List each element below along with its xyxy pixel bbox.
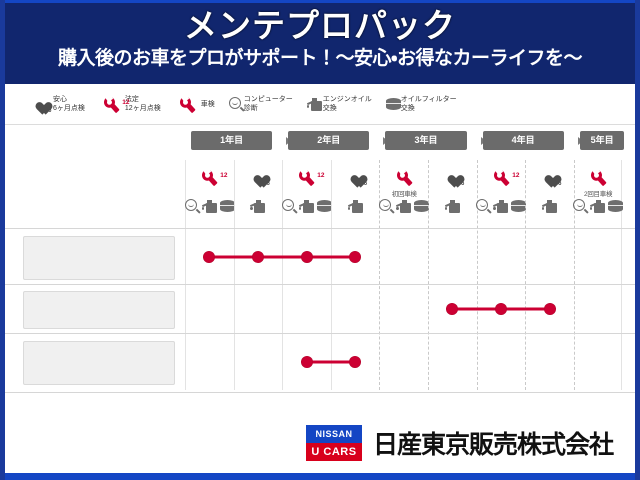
column-main-icon: 12 xyxy=(478,166,526,188)
shaken-label: 初回車検 xyxy=(380,188,428,198)
wrench-icon xyxy=(175,91,201,117)
legend-item-label: 安心6ヶ月点検 xyxy=(53,95,85,113)
column-header: 6 xyxy=(332,160,380,218)
wrench-icon: 12 xyxy=(99,91,125,117)
heart-icon: 6 xyxy=(245,164,271,190)
wrench-icon: 12 xyxy=(197,164,223,190)
column-main-icon: 6 xyxy=(332,166,380,188)
oil-can-icon xyxy=(307,98,323,111)
column-main-icon: 12 xyxy=(186,166,234,188)
heart-icon: 6 xyxy=(440,164,466,190)
footer: NISSAN U CARS 日産東京販売株式会社 xyxy=(5,414,635,480)
coverage-dot xyxy=(447,304,458,315)
legend-item-label: 法定12ヶ月点検 xyxy=(125,95,161,113)
oil-can-icon xyxy=(348,200,364,213)
column-header: 6 xyxy=(429,160,477,218)
year-label-5: 5年目 xyxy=(580,131,625,150)
coverage-dot xyxy=(252,252,263,263)
wrench-icon xyxy=(585,164,611,190)
column-header: 6 xyxy=(526,160,574,218)
infographic-page: メンテプロパック 購入後のお車をプロがサポート！〜安心・お得なカーライフを〜 6… xyxy=(0,0,640,480)
page-subtitle: 購入後のお車をプロがサポート！〜安心・お得なカーライフを〜 xyxy=(5,46,635,72)
column-sub-icons xyxy=(575,198,622,214)
coverage-line xyxy=(307,361,356,364)
package-card-1[interactable] xyxy=(23,236,175,280)
legend-item-label: 車検 xyxy=(201,100,215,109)
legend-item-label: オイルフィルター交換 xyxy=(401,95,457,113)
coverage-dot xyxy=(301,357,312,368)
column-main-icon: 6 xyxy=(526,166,574,188)
column-sub-icons xyxy=(526,198,574,214)
grid-column-4: 6 xyxy=(331,160,380,390)
grid-column-3: 12 xyxy=(282,160,331,390)
row-separator-2 xyxy=(5,284,635,285)
coverage-dot xyxy=(301,252,312,263)
oil-can-icon xyxy=(542,200,558,213)
magnifier-icon xyxy=(185,199,200,214)
legend-item-5: エンジンオイル交換 xyxy=(307,95,372,113)
oil-can-icon xyxy=(493,200,509,213)
grid-column-1: 12 xyxy=(185,160,234,390)
oil-can-icon xyxy=(250,200,266,213)
row-separator-3 xyxy=(5,333,635,334)
oil-filter-icon xyxy=(386,98,401,110)
column-sub-icons xyxy=(186,198,234,214)
grid-column-8: 6 xyxy=(525,160,574,390)
row-separator-4 xyxy=(5,392,635,393)
header-banner: メンテプロパック 購入後のお車をプロがサポート！〜安心・お得なカーライフを〜 xyxy=(5,0,635,84)
column-header: 初回車検 xyxy=(380,160,428,218)
magnifier-icon xyxy=(379,199,394,214)
legend-item-4: コンピューター診断 xyxy=(229,95,293,113)
column-sub-icons xyxy=(478,198,526,214)
column-header: 12 xyxy=(186,160,234,218)
column-header: 12 xyxy=(283,160,331,218)
column-main-icon: 12 xyxy=(283,166,331,188)
grid-column-6: 6 xyxy=(428,160,477,390)
logo-nissan-text: NISSAN xyxy=(306,425,362,443)
column-header: 2回目車検 xyxy=(575,160,622,218)
oil-can-icon xyxy=(202,200,218,213)
logo-ucars-text: U CARS xyxy=(306,443,362,461)
oil-can-icon xyxy=(445,200,461,213)
shaken-label: 2回目車検 xyxy=(575,188,622,198)
page-title: メンテプロパック xyxy=(5,6,635,46)
column-sub-icons xyxy=(380,198,428,214)
legend-item-1: 6安心6ヶ月点検 xyxy=(27,91,85,117)
year-header-row: 1年目2年目3年目4年目5年目 xyxy=(185,131,623,157)
oil-filter-icon xyxy=(608,200,623,212)
year-label-1: 1年目 xyxy=(191,131,272,150)
legend-item-3: 車検 xyxy=(175,91,215,117)
magnifier-icon xyxy=(476,199,491,214)
grid-column-2: 6 xyxy=(234,160,283,390)
legend-item-6: オイルフィルター交換 xyxy=(386,95,457,113)
heart-icon: 6 xyxy=(537,164,563,190)
legend-item-label: コンピューター診断 xyxy=(244,95,293,113)
year-label-3: 3年目 xyxy=(385,131,466,150)
nissan-ucars-logo: NISSAN U CARS xyxy=(305,424,363,462)
legend-bar: 6安心6ヶ月点検12法定12ヶ月点検車検コンピューター診断エンジンオイル交換オイ… xyxy=(5,84,635,125)
wrench-icon: 12 xyxy=(488,164,514,190)
oil-filter-icon xyxy=(317,200,332,212)
column-main-icon xyxy=(380,166,428,188)
grid-column-9: 2回目車検 xyxy=(574,160,623,390)
coverage-dot xyxy=(544,304,555,315)
wrench-icon: 12 xyxy=(294,164,320,190)
brand-lockup: NISSAN U CARS 日産東京販売株式会社 xyxy=(305,424,613,462)
company-name: 日産東京販売株式会社 xyxy=(373,425,613,461)
column-sub-icons xyxy=(283,198,331,214)
magnifier-icon xyxy=(229,97,244,112)
oil-can-icon xyxy=(396,200,412,213)
oil-filter-icon xyxy=(220,200,235,212)
coverage-dot xyxy=(350,252,361,263)
column-sub-icons xyxy=(429,198,477,214)
wrench-icon xyxy=(391,164,417,190)
column-sub-icons xyxy=(235,198,283,214)
oil-can-icon xyxy=(299,200,315,213)
column-sub-icons xyxy=(332,198,380,214)
grid-column-7: 12 xyxy=(477,160,526,390)
coverage-line xyxy=(209,256,355,259)
column-main-icon: 6 xyxy=(235,166,283,188)
column-header: 12 xyxy=(478,160,526,218)
oil-filter-icon xyxy=(511,200,526,212)
year-label-4: 4年目 xyxy=(483,131,564,150)
column-main-icon xyxy=(575,166,622,188)
package-card-2[interactable] xyxy=(23,291,175,329)
column-main-icon: 6 xyxy=(429,166,477,188)
legend-item-2: 12法定12ヶ月点検 xyxy=(99,91,161,117)
column-header: 6 xyxy=(235,160,283,218)
heart-icon: 6 xyxy=(27,91,53,117)
heart-icon: 6 xyxy=(343,164,369,190)
service-grid: 126126初回車検61262回目車検 xyxy=(185,160,623,390)
magnifier-icon xyxy=(282,199,297,214)
grid-column-5: 初回車検 xyxy=(379,160,428,390)
legend-item-label: エンジンオイル交換 xyxy=(323,95,372,113)
coverage-dot xyxy=(350,357,361,368)
coverage-dot xyxy=(495,304,506,315)
oil-filter-icon xyxy=(414,200,429,212)
oil-can-icon xyxy=(590,200,606,213)
magnifier-icon xyxy=(573,199,588,214)
header-top-rule xyxy=(5,0,635,3)
row-separator-1 xyxy=(5,228,635,229)
legend-row: 6安心6ヶ月点検12法定12ヶ月点検車検コンピューター診断エンジンオイル交換オイ… xyxy=(5,84,635,124)
package-card-3[interactable] xyxy=(23,341,175,385)
year-label-2: 2年目 xyxy=(288,131,369,150)
footer-rule xyxy=(5,473,635,480)
coverage-dot xyxy=(204,252,215,263)
